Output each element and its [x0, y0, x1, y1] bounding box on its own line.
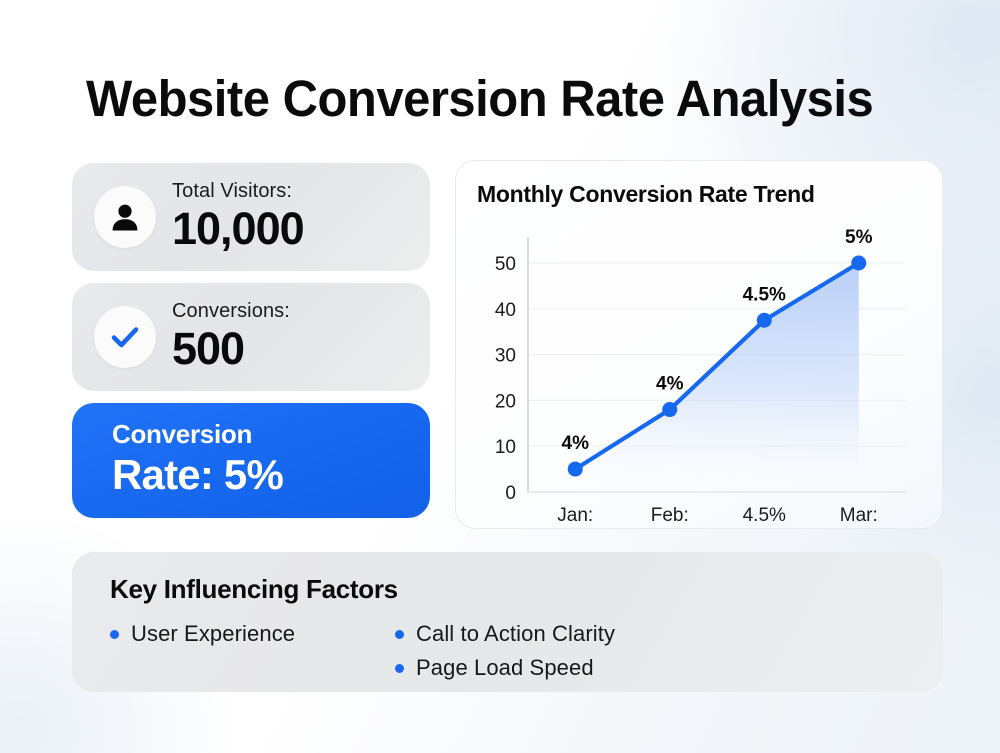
stat-value: 10,000: [172, 204, 304, 254]
list-item: Page Load Speed: [395, 654, 815, 682]
list-item: User Experience: [110, 620, 395, 648]
person-icon: [94, 186, 156, 248]
stat-card-total-visitors: Total Visitors: 10,000: [72, 163, 430, 271]
key-factor-label: User Experience: [131, 620, 295, 648]
conversion-rate-label: Conversion: [112, 419, 430, 449]
stat-text-conversions: Conversions: 500: [172, 300, 290, 374]
stat-value: 500: [172, 324, 290, 374]
line-chart: 010203040504%4%4.5%5%Jan:Feb:4.5%Mar:: [456, 161, 943, 529]
key-factor-label: Page Load Speed: [416, 654, 594, 682]
check-icon: [94, 306, 156, 368]
svg-text:4%: 4%: [562, 433, 590, 454]
chart-card: Monthly Conversion Rate Trend 0102030405…: [455, 160, 943, 529]
stat-text-total-visitors: Total Visitors: 10,000: [172, 180, 304, 254]
list-item: Call to Action Clarity: [395, 620, 815, 648]
svg-text:Jan:: Jan:: [557, 505, 593, 526]
svg-text:4.5%: 4.5%: [743, 284, 786, 305]
svg-text:20: 20: [495, 391, 516, 412]
conversion-rate-value: Rate: 5%: [112, 451, 430, 499]
bullet-icon: [395, 630, 404, 639]
svg-text:0: 0: [505, 483, 516, 504]
key-factor-label: Call to Action Clarity: [416, 620, 615, 648]
bullet-icon: [110, 630, 119, 639]
page-title: Website Conversion Rate Analysis: [86, 68, 902, 130]
stat-card-conversions: Conversions: 500: [72, 283, 430, 391]
svg-text:Mar:: Mar:: [840, 505, 878, 526]
bullet-icon: [395, 664, 404, 673]
svg-text:10: 10: [495, 437, 516, 458]
svg-text:4.5%: 4.5%: [743, 505, 786, 526]
conversion-rate-card: Conversion Rate: 5%: [72, 403, 430, 518]
stat-label: Conversions:: [172, 300, 290, 323]
stat-label: Total Visitors:: [172, 180, 304, 203]
key-factors-column-left: User Experience: [110, 620, 395, 688]
svg-text:40: 40: [495, 300, 516, 321]
svg-text:4%: 4%: [656, 374, 684, 395]
key-factors-columns: User Experience Call to Action Clarity P…: [110, 620, 943, 688]
key-factors-column-right: Call to Action Clarity Page Load Speed: [395, 620, 815, 688]
svg-text:5%: 5%: [845, 227, 873, 248]
infographic-canvas: Website Conversion Rate Analysis Total V…: [0, 0, 1000, 753]
svg-text:30: 30: [495, 346, 516, 367]
key-factors-card: Key Influencing Factors User Experience …: [72, 552, 943, 692]
svg-text:Feb:: Feb:: [651, 505, 689, 526]
svg-text:50: 50: [495, 254, 516, 275]
key-factors-title: Key Influencing Factors: [110, 574, 943, 605]
